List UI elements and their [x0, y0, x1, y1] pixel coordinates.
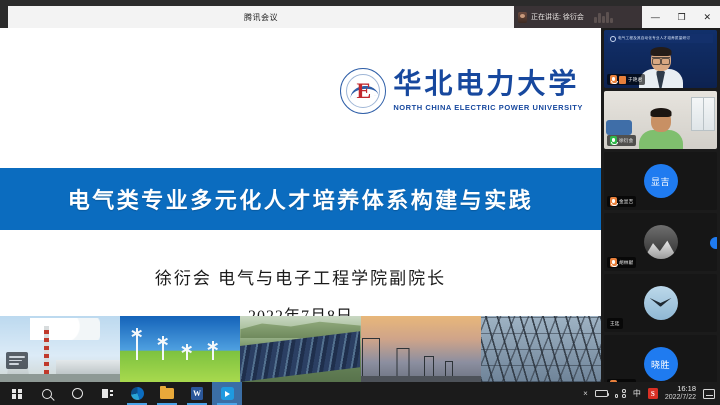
speaking-status-text: 正在讲话: 徐衍会 [531, 12, 584, 22]
tencent-meeting-icon [221, 387, 234, 400]
university-emblem-icon [340, 68, 386, 114]
title-bar-left-edge [0, 0, 8, 28]
avatar [644, 225, 678, 259]
slide-title: 电气类专业多元化人才培养体系构建与实践 [68, 183, 534, 215]
edge-icon [131, 387, 144, 400]
photo-transmission-towers [361, 316, 481, 382]
participant-name-chip: 徐衍会 [607, 135, 636, 146]
virtual-background-text: 电气工程及其自动化专业人才培养质量研讨 [618, 36, 690, 41]
tencent-meeting-button[interactable] [212, 382, 242, 405]
participant-name: 胡林献 [619, 260, 633, 266]
tray-close-icon[interactable]: × [583, 389, 588, 398]
word-icon: W [191, 387, 203, 400]
participant-tile[interactable]: 徐衍会 [604, 91, 717, 149]
edge-button[interactable] [122, 382, 152, 405]
notification-center-icon[interactable] [703, 389, 715, 399]
university-name-en: NORTH CHINA ELECTRIC POWER UNIVERSITY [393, 103, 583, 112]
emblem-swoosh-icon [350, 85, 379, 99]
participant-video-image [639, 109, 683, 149]
microphone-active-icon[interactable] [610, 136, 617, 145]
avatar: 晓胜 [644, 347, 678, 381]
slide-header-area: 华北电力大学 NORTH CHINA ELECTRIC POWER UNIVER… [0, 28, 601, 150]
photo-wind-turbines [120, 316, 240, 382]
search-icon [42, 389, 52, 399]
taskbar-buttons: W [0, 382, 242, 405]
system-tray: × 中 S 16:18 2022/7/22 [583, 385, 720, 401]
minimize-button[interactable]: — [651, 13, 660, 22]
microphone-muted-icon[interactable] [610, 197, 617, 206]
avatar [644, 286, 678, 320]
participant-name-chip: 胡林献 [607, 257, 636, 268]
participant-name: 王廷 [610, 321, 620, 327]
participant-tile[interactable]: 王廷 [604, 274, 717, 332]
ime-mode-icon[interactable]: 中 [633, 388, 641, 399]
word-button[interactable]: W [182, 382, 212, 405]
clock-time: 16:18 [677, 385, 696, 393]
seal-icon [610, 36, 616, 42]
window-controls: — ❐ ✕ [642, 6, 720, 28]
microphone-muted-icon[interactable] [610, 258, 617, 267]
photo-thermal-power-plant [0, 316, 120, 382]
glasses-icon [652, 57, 670, 62]
participant-tile[interactable]: 电气工程及其自动化专业人才培养质量研讨 于艳君 [604, 30, 717, 88]
university-logo-text: 华北电力大学 NORTH CHINA ELECTRIC POWER UNIVER… [393, 70, 583, 111]
participant-video-image [639, 48, 683, 88]
participant-name: 金显吉 [619, 199, 633, 205]
shared-screen-slide[interactable]: 华北电力大学 NORTH CHINA ELECTRIC POWER UNIVER… [0, 28, 601, 382]
task-view-button[interactable] [92, 382, 122, 405]
virtual-background-banner: 电气工程及其自动化专业人才培养质量研讨 [608, 34, 713, 43]
participant-tile[interactable]: 显吉 金显吉 [604, 152, 717, 210]
title-bar-center: 腾讯会议 [8, 6, 514, 28]
cortana-button[interactable] [62, 382, 92, 405]
university-name-cn: 华北电力大学 [393, 70, 583, 99]
overflow-indicator-icon [710, 237, 717, 249]
clock[interactable]: 16:18 2022/7/22 [665, 385, 696, 401]
participant-name: 于艳君 [628, 77, 642, 83]
presenter-line: 徐衍会 电气与电子工程学院副院长 [155, 264, 446, 289]
search-button[interactable] [32, 382, 62, 405]
window-title-bar: 腾讯会议 正在讲话: 徐衍会 — ❐ ✕ [0, 0, 720, 28]
desktop: 腾讯会议 正在讲话: 徐衍会 — ❐ ✕ 华北电力大学 NORTH CHIN [0, 0, 720, 405]
photo-solar-panels [240, 316, 360, 382]
app-title: 腾讯会议 [244, 12, 278, 23]
photo-substation-steelwork [481, 316, 601, 382]
task-view-icon [102, 389, 113, 398]
audio-waveform-icon [594, 11, 613, 23]
speaking-indicator: 正在讲话: 徐衍会 [514, 6, 642, 28]
avatar: 显吉 [644, 164, 678, 198]
participant-tile[interactable]: 胡林献 [604, 213, 717, 271]
participant-name-chip: 王廷 [607, 318, 623, 329]
windows-taskbar[interactable]: W × 中 S 16:18 2022/7/22 [0, 382, 720, 405]
maximize-button[interactable]: ❐ [678, 13, 686, 22]
folder-icon [160, 388, 174, 399]
slide-thumbnail-badge-icon [6, 352, 28, 369]
close-button[interactable]: ✕ [704, 13, 712, 22]
participant-name-chip: 于艳君 [607, 74, 645, 85]
background-window [691, 97, 715, 131]
background-sofa [606, 120, 632, 135]
windows-logo-icon [12, 389, 22, 399]
slide-photo-strip [0, 316, 601, 382]
participant-video-rail[interactable]: 电气工程及其自动化专业人才培养质量研讨 于艳君 [601, 28, 720, 382]
network-icon[interactable] [615, 389, 626, 398]
microphone-muted-icon[interactable] [610, 75, 617, 84]
clock-date: 2022/7/22 [665, 394, 696, 402]
sogou-ime-icon[interactable]: S [648, 388, 658, 399]
file-explorer-button[interactable] [152, 382, 182, 405]
university-logo: 华北电力大学 NORTH CHINA ELECTRIC POWER UNIVER… [340, 68, 583, 114]
cortana-icon [72, 388, 83, 399]
host-badge-icon [619, 76, 626, 84]
participant-name: 徐衍会 [619, 138, 633, 144]
speaker-avatar-icon [518, 12, 527, 23]
participant-name-chip: 金显吉 [607, 196, 636, 207]
slide-title-banner: 电气类专业多元化人才培养体系构建与实践 [0, 168, 601, 230]
battery-icon[interactable] [595, 390, 608, 397]
start-button[interactable] [2, 382, 32, 405]
